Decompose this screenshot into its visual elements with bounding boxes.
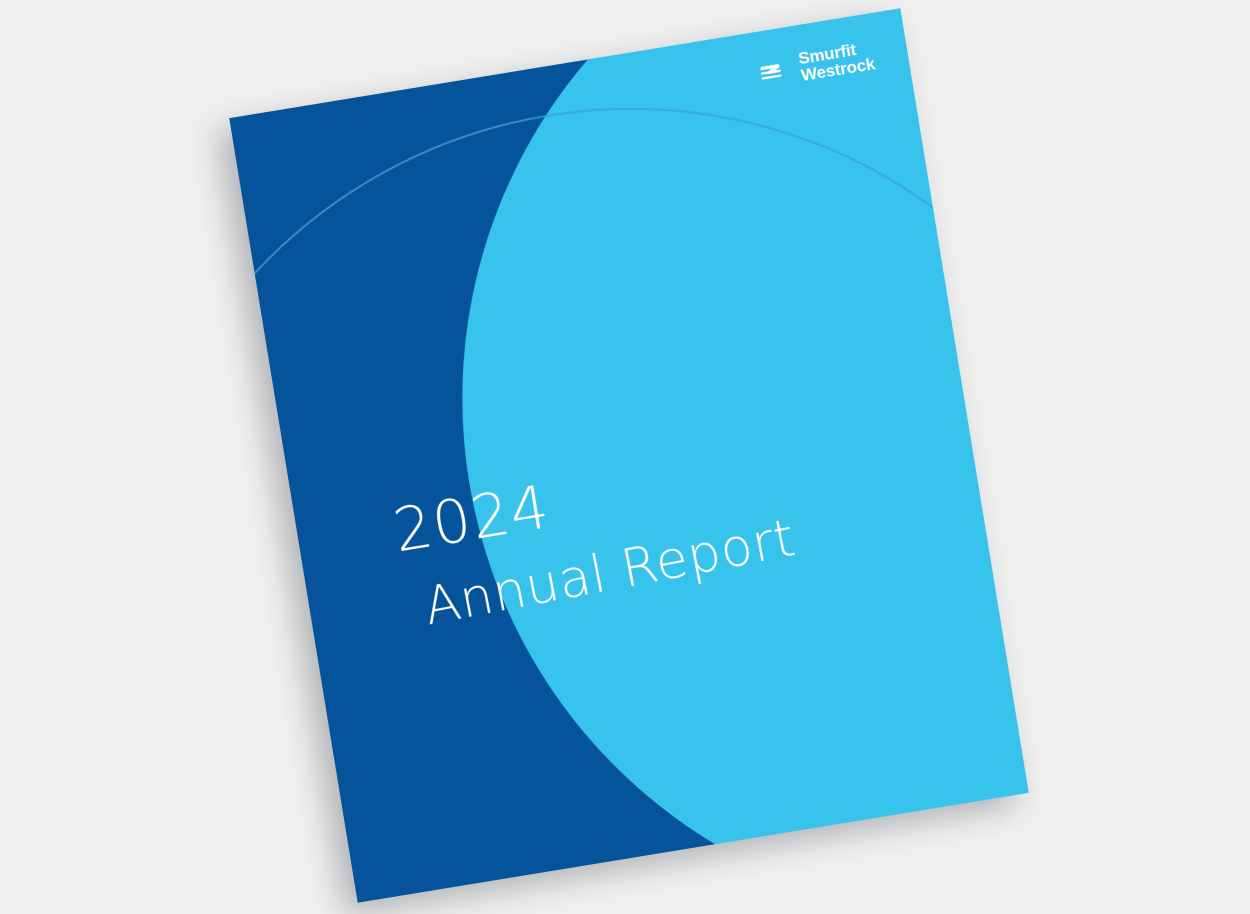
smurfit-westrock-mark-icon — [749, 53, 794, 92]
screenshot-canvas: Smurfit Westrock 2024 Annual Report — [0, 0, 1250, 914]
cover-artboard: Smurfit Westrock 2024 Annual Report — [229, 8, 1029, 902]
annual-report-cover[interactable]: Smurfit Westrock 2024 Annual Report — [229, 8, 1029, 902]
